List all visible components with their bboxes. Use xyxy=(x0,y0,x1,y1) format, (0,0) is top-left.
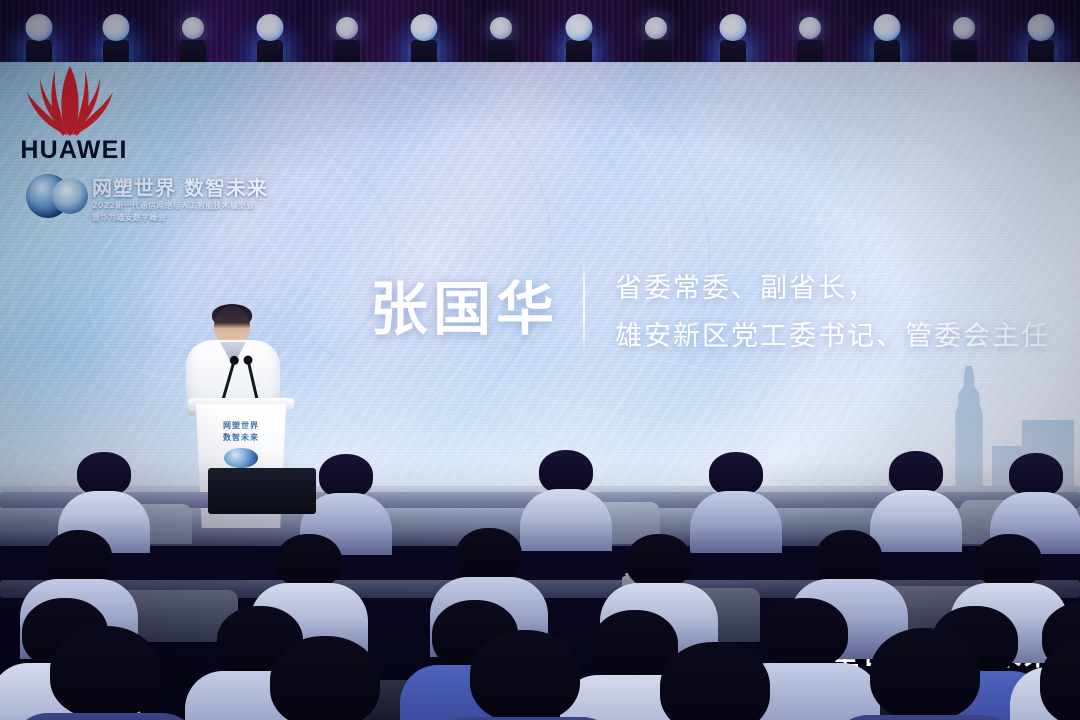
audience-member xyxy=(230,636,420,720)
speaker-role-line-2: 雄安新区党工委书记、管委会主任 xyxy=(615,314,1050,353)
audience-member xyxy=(620,642,810,720)
audience-member xyxy=(430,630,620,720)
event-orb-logo-icon xyxy=(26,174,86,220)
audience-member xyxy=(1000,636,1080,720)
stage-monitor-speaker xyxy=(208,468,316,514)
event-lockup-subtitle-1: 2022新一代通信网络与人工智能技术展览会 xyxy=(92,200,254,211)
speaker-name: 张国华 xyxy=(370,262,559,346)
speaker-role-line-1: 省委常委、副省长， xyxy=(615,266,876,305)
audience-member xyxy=(830,628,1020,720)
huawei-flower-logo-icon xyxy=(22,64,118,138)
huawei-logo: HUAWEI xyxy=(8,62,138,174)
event-lockup-title: 网塑世界 数智未来 xyxy=(92,172,268,201)
audience-member xyxy=(10,626,200,720)
huawei-wordmark: HUAWEI xyxy=(14,136,134,165)
event-lockup-subtitle-2: 暨华为雄安数字峰会 xyxy=(92,212,166,223)
nameplate-divider xyxy=(583,258,585,354)
conference-stage-photo: HUAWEI 网塑世界 数智未来 2022新一代通信网络与人工智能技术展览会 暨… xyxy=(0,0,1080,720)
audience-seating xyxy=(0,430,1080,720)
event-logo-lockup: 网塑世界 数智未来 2022新一代通信网络与人工智能技术展览会 暨华为雄安数字峰… xyxy=(26,174,296,230)
speaker-nameplate: 张国华 省委常委、副省长， 雄安新区党工委书记、管委会主任 xyxy=(370,258,1070,358)
